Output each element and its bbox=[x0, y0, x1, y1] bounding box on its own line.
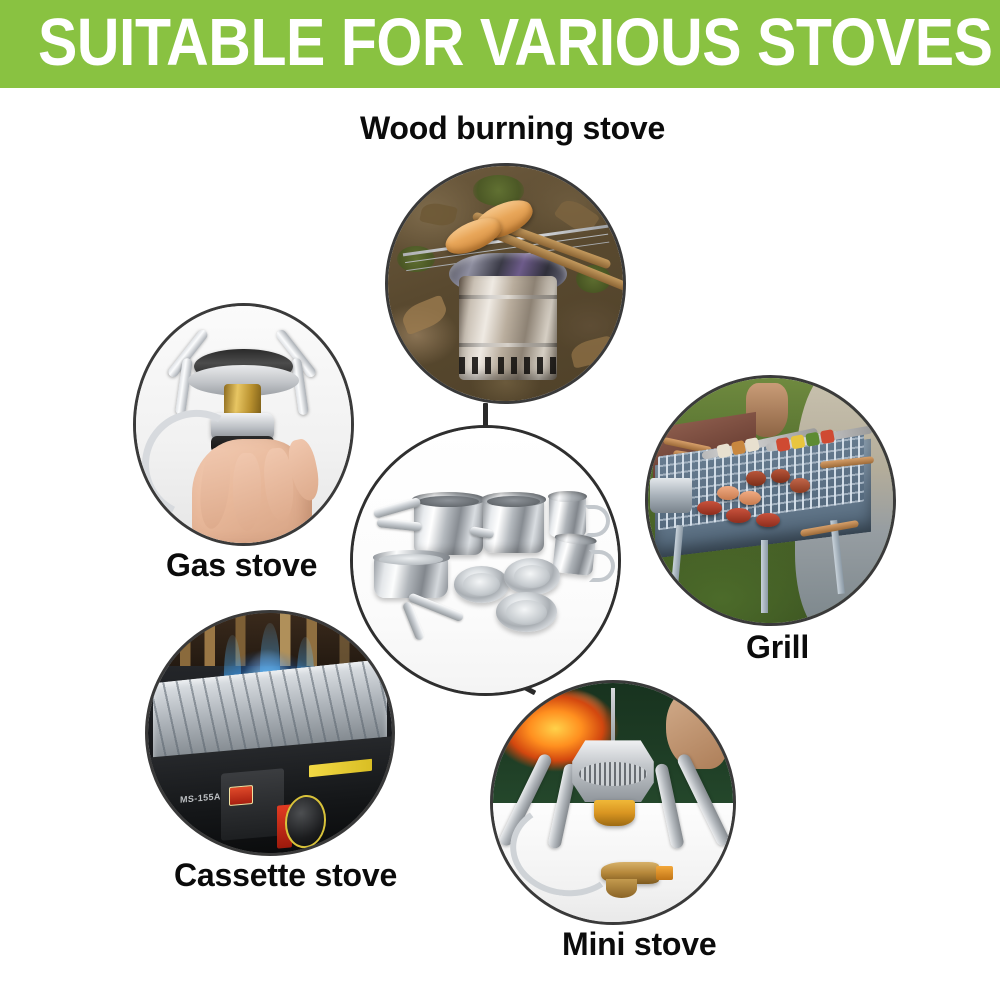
finger bbox=[233, 453, 261, 531]
stove-stem bbox=[611, 688, 615, 745]
photo-cookware-set bbox=[353, 428, 618, 693]
regulator-cap bbox=[656, 866, 673, 880]
kebab-piece bbox=[730, 440, 745, 455]
stove-body bbox=[459, 276, 558, 379]
pot-interior bbox=[487, 496, 541, 507]
stove-ring bbox=[459, 343, 558, 347]
hand bbox=[666, 688, 728, 769]
kebab-piece bbox=[775, 437, 790, 452]
kebab-piece bbox=[790, 434, 805, 449]
stove-vents bbox=[459, 357, 558, 374]
plate-small bbox=[454, 566, 510, 603]
pot-medium bbox=[483, 497, 544, 553]
pot-on-grill bbox=[650, 478, 692, 512]
frying-pan bbox=[374, 555, 448, 597]
photo-wood-burning-stove bbox=[388, 166, 623, 401]
ignition-button bbox=[229, 785, 253, 806]
plate-medium bbox=[504, 558, 560, 595]
meat-icon bbox=[790, 478, 810, 493]
label-grill: Grill bbox=[746, 629, 809, 666]
kebab-piece bbox=[805, 432, 820, 447]
shrimp-icon bbox=[739, 491, 761, 506]
grill-leg bbox=[761, 540, 768, 614]
photo-grill bbox=[648, 378, 893, 623]
label-gas-stove: Gas stove bbox=[166, 547, 317, 584]
diagram-stage: Wood burning stove Gas stove bbox=[0, 88, 1000, 1000]
plate-well bbox=[514, 565, 551, 588]
regulator-disc bbox=[606, 879, 637, 898]
node-mini-stove[interactable] bbox=[490, 680, 736, 925]
stove-ring bbox=[459, 295, 558, 299]
kebab-piece bbox=[717, 443, 732, 458]
node-hub-cookware-set[interactable] bbox=[350, 425, 621, 696]
node-grill[interactable] bbox=[645, 375, 896, 626]
pan-interior bbox=[379, 554, 443, 565]
plate-well bbox=[463, 573, 500, 596]
sausage-icon bbox=[697, 501, 722, 516]
node-gas-stove[interactable] bbox=[133, 303, 354, 546]
photo-mini-stove bbox=[493, 683, 733, 922]
mug-upright bbox=[549, 494, 586, 536]
meat-icon bbox=[746, 471, 766, 486]
label-wood-burning-stove: Wood burning stove bbox=[360, 110, 665, 147]
header-banner: SUITABLE FOR VARIOUS STOVES bbox=[0, 0, 1000, 88]
plate-large bbox=[496, 592, 557, 632]
kebab-piece bbox=[820, 429, 835, 444]
label-cassette-stove: Cassette stove bbox=[174, 857, 397, 894]
kebab-piece bbox=[744, 437, 759, 452]
shrimp-icon bbox=[717, 486, 739, 501]
mug-rim bbox=[548, 491, 587, 502]
sausage-icon bbox=[726, 508, 751, 523]
node-wood-burning-stove[interactable] bbox=[385, 163, 626, 404]
plate-well bbox=[506, 600, 546, 625]
page-title: SUITABLE FOR VARIOUS STOVES bbox=[38, 9, 993, 76]
burner-holes bbox=[579, 762, 646, 786]
photo-gas-stove bbox=[136, 306, 351, 543]
label-mini-stove: Mini stove bbox=[562, 926, 716, 963]
